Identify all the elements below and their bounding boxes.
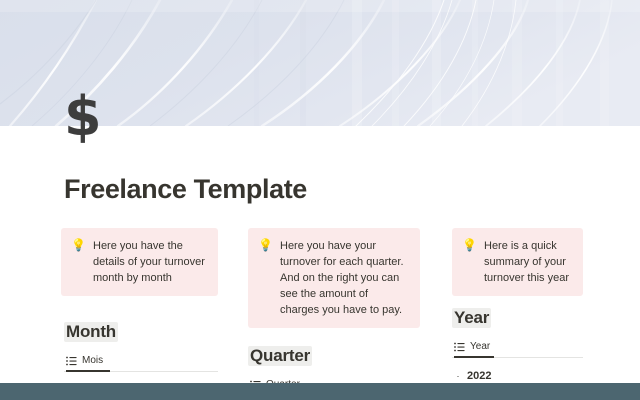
bullet-icon: ·	[452, 371, 464, 381]
database-view-tabs-year: Year	[452, 338, 583, 358]
view-tab-mois[interactable]: Mois	[64, 355, 107, 369]
list-item[interactable]: · 2022	[452, 367, 583, 384]
list-view-icon	[66, 356, 77, 366]
database-rows-year: · 2022	[452, 367, 583, 384]
page-body: Freelance Template 💡 Here you have the d…	[0, 126, 640, 400]
bottom-status-bar	[0, 383, 640, 400]
callout-text: Here you have the details of your turnov…	[89, 238, 206, 286]
list-item-label: 2022	[464, 370, 491, 382]
active-tab-indicator	[454, 356, 494, 358]
callout-year[interactable]: 💡 Here is a quick summary of your turnov…	[452, 228, 583, 296]
database-month: Month Mois	[64, 322, 218, 372]
database-year: Year Year ·	[452, 308, 583, 384]
page-title[interactable]: Freelance Template	[64, 174, 307, 205]
active-tab-indicator	[66, 370, 110, 372]
callout-text: Here you have your turnover for each qua…	[276, 238, 408, 318]
database-view-tabs-month: Mois	[64, 352, 218, 372]
lightbulb-icon: 💡	[71, 238, 89, 286]
database-title-month[interactable]: Month	[64, 322, 118, 342]
view-tab-label: Year	[470, 341, 490, 352]
lightbulb-icon: 💡	[462, 238, 480, 286]
database-title-year[interactable]: Year	[452, 308, 491, 328]
list-view-icon	[454, 342, 465, 352]
callout-month[interactable]: 💡 Here you have the details of your turn…	[61, 228, 218, 296]
callout-quarter[interactable]: 💡 Here you have your turnover for each q…	[248, 228, 420, 328]
lightbulb-icon: 💡	[258, 238, 276, 318]
callout-text: Here is a quick summary of your turnover…	[480, 238, 571, 286]
view-tab-label: Mois	[82, 355, 103, 366]
view-tab-year[interactable]: Year	[452, 341, 494, 355]
dollar-sign-icon[interactable]: $	[64, 88, 122, 146]
database-title-quarter[interactable]: Quarter	[248, 346, 312, 366]
